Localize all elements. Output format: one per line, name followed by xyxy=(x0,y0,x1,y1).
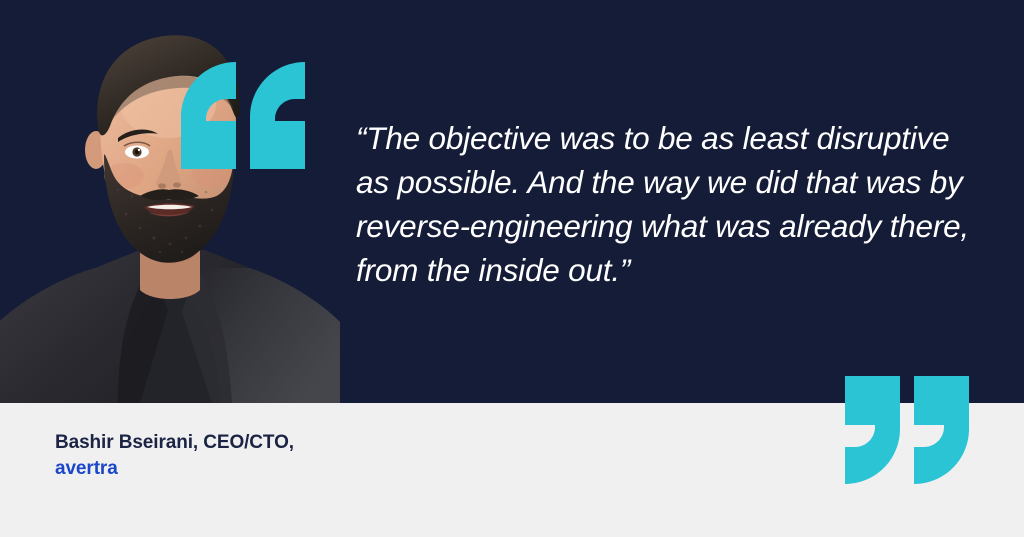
speaker-portrait xyxy=(0,0,340,403)
quote-card: “The objective was to be as least disrup… xyxy=(0,0,1024,537)
opening-quote-icon xyxy=(181,62,305,169)
attribution-name: Bashir Bseirani, CEO/CTO, xyxy=(55,430,294,456)
quote-text: “The objective was to be as least disrup… xyxy=(356,116,981,292)
attribution: Bashir Bseirani, CEO/CTO, avertra xyxy=(55,430,294,482)
attribution-company[interactable]: avertra xyxy=(55,456,294,482)
closing-quote-icon xyxy=(843,376,971,484)
